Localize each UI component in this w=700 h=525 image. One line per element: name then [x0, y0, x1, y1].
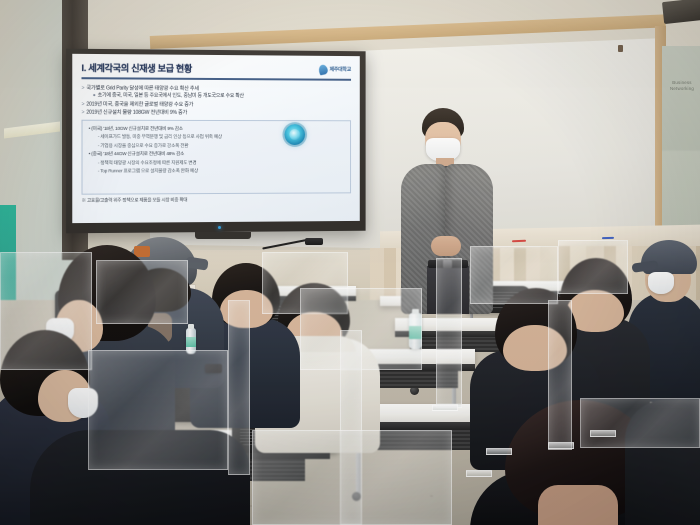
slide-detail-box: • (미국) '18년, 10GW 신규설치로 전년대비 9% 감소 - 세이프… — [81, 119, 351, 194]
presentation-slide: I. 세계각국의 신재생 보급 현황 제주대학교 >국가별로 Grid Pari… — [72, 54, 360, 223]
presenter-hands — [431, 236, 461, 256]
blue-marker-icon — [602, 237, 614, 239]
bottle-label — [186, 337, 196, 347]
whiteboard-clip-icon — [618, 45, 623, 52]
bullet-marker: > — [81, 101, 84, 107]
acrylic-divider — [96, 260, 188, 324]
university-logo: 제주대학교 — [319, 64, 351, 74]
detail-line: • (미국) '18년, 10GW 신규설치로 전년대비 9% 감소 — [89, 124, 346, 133]
acrylic-divider — [580, 398, 700, 448]
acrylic-divider-foot — [590, 430, 616, 437]
bullet-marker: > — [81, 85, 84, 91]
bullet-text: 2019년 신규설치 물량 108GW 전년대비 9% 증가 — [86, 109, 187, 115]
detail-line: - 기업용 시장을 중심으로 수요 증가로 강소폭 전환 — [89, 141, 346, 150]
student-neck-foreground — [538, 485, 618, 525]
bottle-cap — [188, 324, 194, 329]
microphone — [305, 238, 323, 245]
display-stand — [195, 232, 251, 239]
slide-bullet: >2019년 신규설치 물량 108GW 전년대비 9% 증가 — [81, 108, 351, 117]
detail-line: - 세이프가드 발동, 미중 무역분쟁 및 금리 인상 등으로 사업 위축 예상 — [89, 133, 346, 142]
display-power-led-icon — [218, 226, 221, 229]
slide-screen: I. 세계각국의 신재생 보급 현황 제주대학교 >국가별로 Grid Pari… — [72, 54, 360, 223]
detail-line: - Top Runner 프로그램 으로 설치물량 감소폭 완화 예상 — [89, 167, 346, 176]
logo-text: 제주대학교 — [330, 66, 351, 73]
bullet-text: 초기에 중국, 미국, 일본 등 주요국에서 인도, 중남미 등 개도국으로 수… — [98, 93, 244, 99]
acrylic-divider-foot — [486, 448, 512, 455]
acrylic-divider — [548, 300, 572, 450]
acrylic-divider-foot — [466, 470, 492, 477]
slide-title: I. 세계각국의 신재생 보급 현황 — [81, 61, 191, 75]
acrylic-divider — [436, 258, 462, 408]
acrylic-divider — [470, 246, 558, 304]
title-divider — [81, 77, 351, 80]
acrylic-divider — [558, 240, 628, 294]
acrylic-divider — [252, 430, 452, 525]
bullet-text: 2019년 미국, 중국을 제외한 글로벌 태양광 수요 증가 — [86, 101, 193, 107]
projection-display: I. 세계각국의 신재생 보급 현황 제주대학교 >국가별로 Grid Pari… — [66, 49, 366, 234]
acrylic-divider — [0, 252, 92, 370]
globe-emblem-icon — [284, 124, 305, 145]
wall-sign-text: Business Networking — [664, 80, 700, 92]
acrylic-divider — [228, 300, 250, 475]
ceiling-projector-icon — [662, 0, 700, 24]
bullet-marker: ● — [93, 93, 96, 98]
acrylic-divider-foot — [548, 442, 574, 449]
classroom-photo: Business Networking I. 세계각국의 신재생 보급 현황 제… — [0, 0, 700, 525]
acrylic-divider — [88, 350, 228, 470]
bullet-marker: > — [81, 109, 84, 115]
jeju-university-emblem-icon — [318, 63, 329, 74]
bullet-text: 국가별로 Grid Parity 달성에 따른 태양광 수요 확산 추세 — [86, 85, 199, 92]
face-mask — [648, 272, 674, 294]
slide-footnote: ※ 고효율/고출력 위주 정책으로 제품을 모듈 시장 비중 확대 — [81, 196, 351, 204]
acrylic-divider-foot — [432, 404, 458, 411]
